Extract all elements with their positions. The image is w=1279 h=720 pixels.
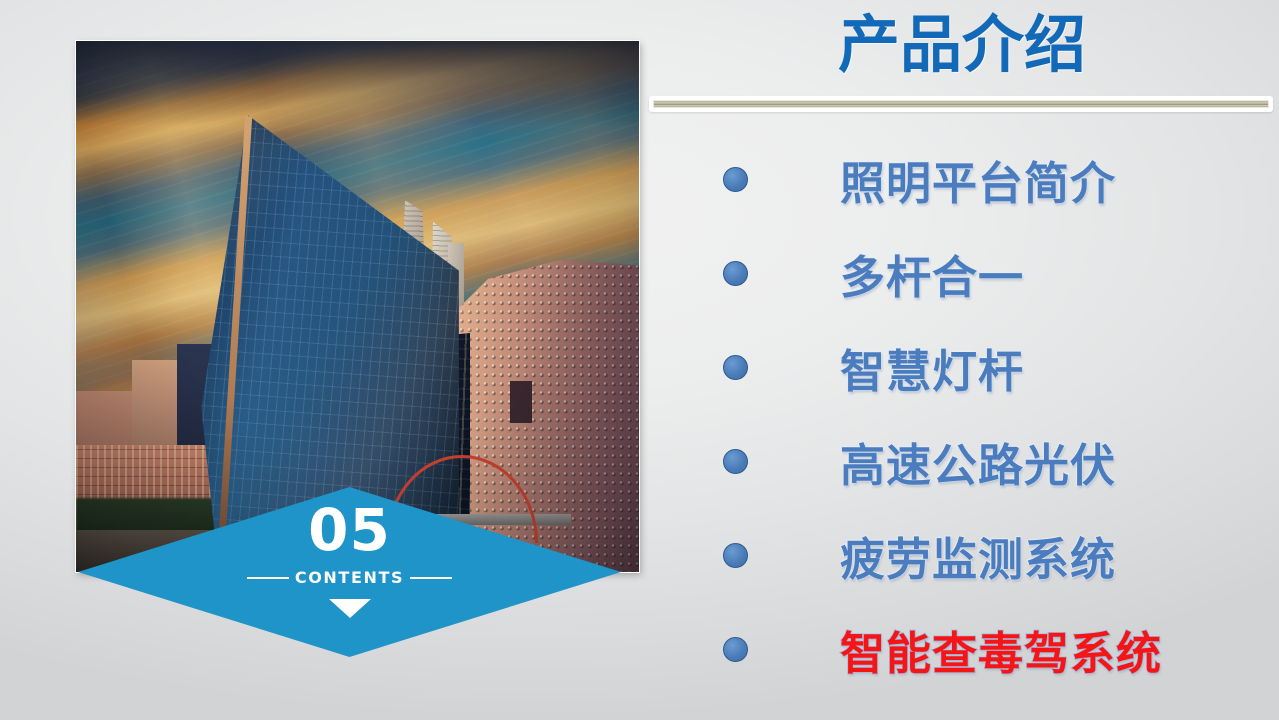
bullet-dot-icon [723, 637, 748, 662]
list-item-label: 疲劳监测系统 [840, 523, 1116, 588]
list-item[interactable]: 多杆合一 [645, 238, 1279, 308]
bullet-dot-icon [723, 449, 748, 474]
title-divider-bar [653, 100, 1269, 108]
list-item-label: 多杆合一 [840, 241, 1024, 306]
bullet-dot-icon [723, 355, 748, 380]
list-item-label: 高速公路光伏 [840, 429, 1116, 494]
content-panel: 产品介绍 照明平台简介 多杆合一 智慧灯杆 高速公路光伏 [645, 0, 1279, 720]
list-item[interactable]: 照明平台简介 [645, 144, 1279, 214]
list-item-label: 智能查毒驾系统 [840, 617, 1162, 682]
bullet-dot-icon [723, 167, 748, 192]
list-item[interactable]: 高速公路光伏 [645, 426, 1279, 496]
page-title: 产品介绍 [645, 6, 1279, 84]
bullet-dot-icon [723, 261, 748, 286]
title-divider [649, 96, 1273, 112]
list-item-label: 照明平台简介 [840, 147, 1116, 212]
bullet-dot-icon [723, 543, 748, 568]
list-item[interactable]: 疲劳监测系统 [645, 520, 1279, 590]
list-item[interactable]: 智能查毒驾系统 [645, 614, 1279, 684]
list-item-label: 智慧灯杆 [840, 335, 1024, 400]
list-item[interactable]: 智慧灯杆 [645, 332, 1279, 402]
presentation-slide: 05 CONTENTS 产品介绍 照明平台简介 多杆合一 智慧灯杆 [0, 0, 1279, 720]
bullet-list: 照明平台简介 多杆合一 智慧灯杆 高速公路光伏 疲劳监测系统 智能查毒驾系统 [645, 130, 1279, 710]
